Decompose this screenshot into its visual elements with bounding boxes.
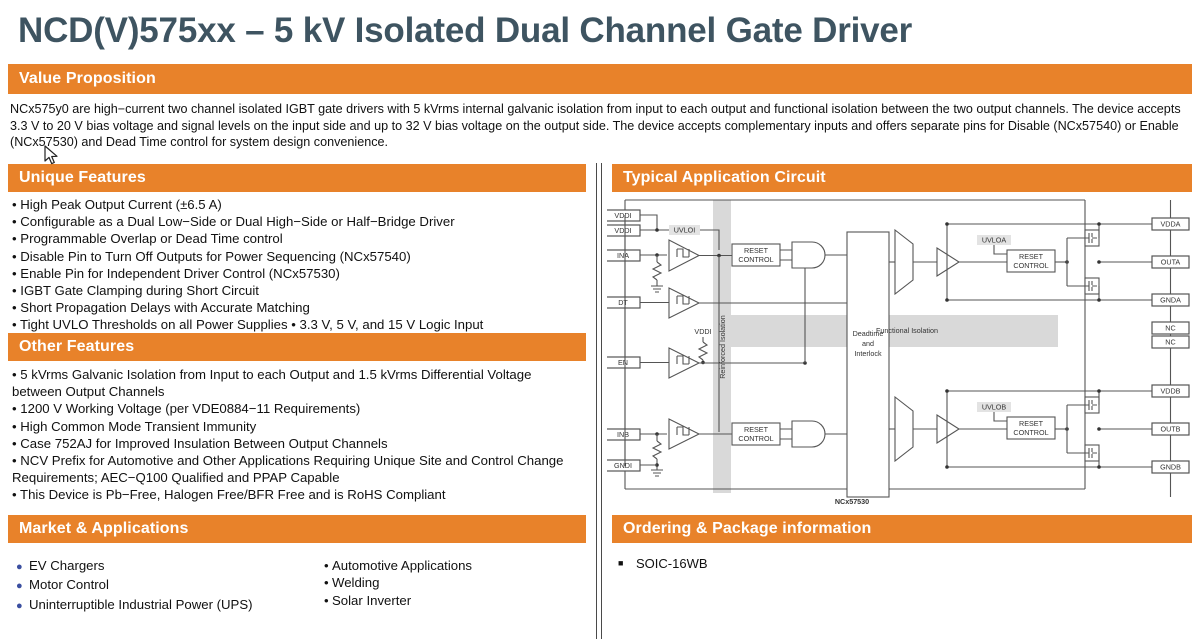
list-item: • Automotive Applications (324, 557, 584, 574)
list-item: ● Motor Control (16, 576, 316, 595)
section-header-other-features: Other Features (8, 333, 586, 361)
pin-label-ina: INA (617, 251, 629, 260)
list-item-label: Welding (332, 574, 379, 591)
block-label-reset-control-b-line2: CONTROL (738, 434, 773, 443)
list-item: • High Common Mode Transient Immunity (12, 418, 572, 435)
bullet-icon: • (324, 574, 332, 591)
list-item: • Programmable Overlap or Dead Time cont… (12, 230, 588, 247)
page-title: NCD(V)575xx – 5 kV Isolated Dual Channel… (18, 8, 1178, 54)
section-header-label: Value Proposition (19, 71, 156, 87)
list-item: • Disable Pin to Turn Off Outputs for Po… (12, 248, 588, 265)
section-header-typical-application-circuit: Typical Application Circuit (612, 164, 1192, 192)
section-header-ordering-package: Ordering & Package information (612, 515, 1192, 543)
pin-label-gndb: GNDB (1160, 463, 1181, 472)
bullet-icon: • (324, 592, 332, 609)
bullet-icon: ● (16, 598, 29, 615)
list-item-label: Uninterruptible Industrial Power (UPS) (29, 596, 253, 613)
bullet-icon: ● (16, 578, 29, 595)
block-label-reset-control-b-line1: RESET (744, 425, 769, 434)
list-item-label: SOIC-16WB (636, 556, 708, 571)
list-item-label: Automotive Applications (332, 557, 472, 574)
list-item: • 5 kVrms Galvanic Isolation from Input … (12, 366, 572, 400)
slide-page: NCD(V)575xx – 5 kV Isolated Dual Channel… (0, 0, 1200, 639)
unique-features-list: • High Peak Output Current (±6.5 A) • Co… (12, 196, 588, 334)
section-header-value-proposition: Value Proposition (8, 64, 1192, 94)
bullet-icon: ● (16, 559, 29, 576)
pin-label-vddi-1: VDDI (614, 211, 631, 220)
list-item: • 1200 V Working Voltage (per VDE0884−11… (12, 400, 572, 417)
section-header-label: Ordering & Package information (623, 521, 871, 537)
section-header-label: Unique Features (19, 170, 146, 186)
square-bullet-icon: ■ (618, 554, 636, 572)
list-item: • Tight UVLO Thresholds on all Power Sup… (12, 316, 588, 333)
market-applications-list: ● EV Chargers ● Motor Control ● Uninterr… (12, 557, 588, 617)
pin-label-inb: INB (617, 430, 629, 439)
section-header-label: Market & Applications (19, 521, 189, 537)
list-item: • NCV Prefix for Automotive and Other Ap… (12, 452, 572, 486)
block-label-reinforced-isolation: Reinforced Isolation (718, 315, 727, 379)
block-label-uvlob: UVLOB (982, 403, 1007, 412)
list-item: • IGBT Gate Clamping during Short Circui… (12, 282, 588, 299)
list-item: • Solar Inverter (324, 592, 584, 609)
block-label-vddi-pullup: VDDI (694, 327, 711, 336)
block-label-reset-control-a-line1: RESET (744, 246, 769, 255)
block-label-deadtime-2: and (862, 339, 874, 348)
other-features-list: • 5 kVrms Galvanic Isolation from Input … (12, 366, 572, 504)
list-item: ● EV Chargers (16, 557, 316, 576)
list-item-label: EV Chargers (29, 557, 105, 574)
block-label-uvloi: UVLOI (674, 226, 696, 235)
apps-left-column: ● EV Chargers ● Motor Control ● Uninterr… (16, 557, 316, 615)
pin-label-vddi-2: VDDI (614, 226, 631, 235)
list-item: • High Peak Output Current (±6.5 A) (12, 196, 588, 213)
list-item-label: Motor Control (29, 576, 109, 593)
block-label-reset-control-a-line2: CONTROL (738, 255, 773, 264)
pin-label-outb: OUTB (1161, 425, 1181, 434)
pin-label-gndi: GNDI (614, 461, 632, 470)
block-label-uvloa: UVLOA (982, 236, 1007, 245)
block-label-reset-control-out-b-line2: CONTROL (1013, 428, 1048, 437)
block-label-deadtime-3: Interlock (854, 349, 882, 358)
list-item: • Case 752AJ for Improved Insulation Bet… (12, 435, 572, 452)
apps-right-column: • Automotive Applications • Welding • So… (324, 557, 584, 609)
pin-label-dt: DT (618, 298, 628, 307)
typical-application-circuit-diagram: .w{fill:none;stroke:#555;stroke-width:1.… (607, 192, 1193, 507)
block-label-functional-isolation: Functional Isolation (876, 326, 938, 335)
mouse-pointer-icon (44, 145, 60, 167)
list-item: • Welding (324, 574, 584, 591)
list-item: ● Uninterruptible Industrial Power (UPS) (16, 596, 316, 615)
list-item: • Configurable as a Dual Low−Side or Dua… (12, 213, 588, 230)
list-item: • This Device is Pb−Free, Halogen Free/B… (12, 486, 572, 503)
pin-label-vdda: VDDA (1161, 220, 1181, 229)
circuit-device-label: NCx57530 (835, 497, 869, 506)
list-item: • Enable Pin for Independent Driver Cont… (12, 265, 588, 282)
column-divider-secondary (601, 163, 602, 639)
block-label-reset-control-out-a-line2: CONTROL (1013, 261, 1048, 270)
pin-label-en: EN (618, 358, 628, 367)
block-label-reset-control-out-b-line1: RESET (1019, 419, 1044, 428)
section-header-market-applications: Market & Applications (8, 515, 586, 543)
list-item: ■SOIC-16WB (618, 554, 1178, 573)
value-proposition-paragraph: NCx575y0 are high−current two channel is… (10, 101, 1190, 151)
bullet-icon: • (324, 557, 332, 574)
block-label-reset-control-out-a-line1: RESET (1019, 252, 1044, 261)
section-header-label: Other Features (19, 339, 134, 355)
section-header-unique-features: Unique Features (8, 164, 586, 192)
pin-label-gnda: GNDA (1160, 296, 1181, 305)
pin-label-nc-2: NC (1165, 338, 1175, 347)
section-header-label: Typical Application Circuit (623, 170, 826, 186)
pin-label-vddb: VDDB (1161, 387, 1181, 396)
pin-label-nc-1: NC (1165, 324, 1175, 333)
ordering-package-list: ■SOIC-16WB (618, 554, 1178, 573)
column-divider (596, 163, 597, 639)
list-item-label: Solar Inverter (332, 592, 411, 609)
list-item: • Short Propagation Delays with Accurate… (12, 299, 588, 316)
pin-label-outa: OUTA (1161, 258, 1181, 267)
